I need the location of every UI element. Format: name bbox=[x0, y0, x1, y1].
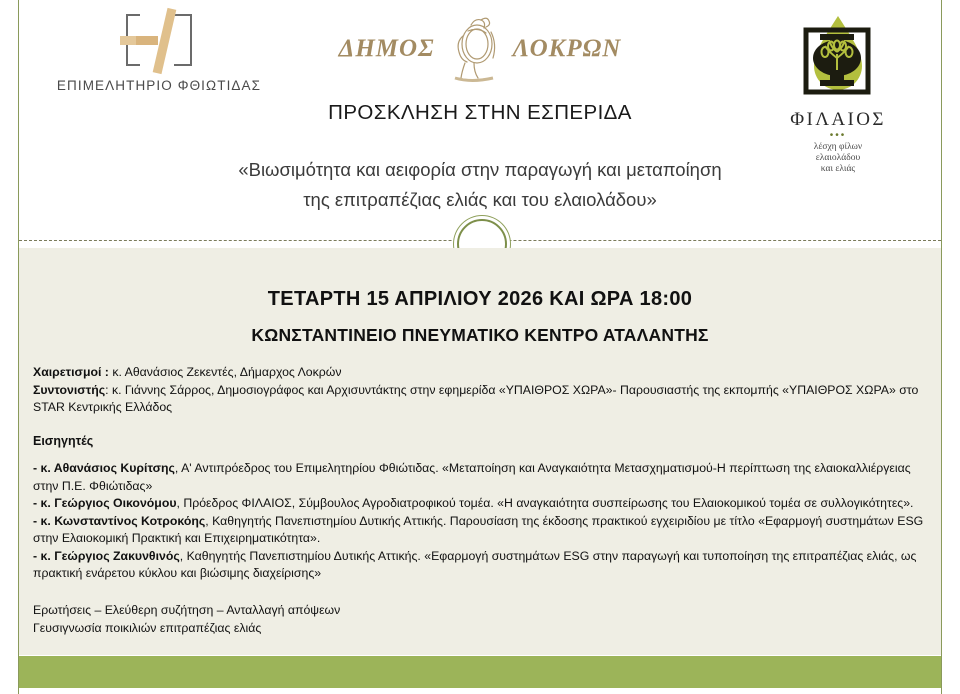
chamber-bracket-icon bbox=[126, 14, 192, 66]
moderator-text: : κ. Γιάννης Σάρρος, Δημοσιογράφος και Α… bbox=[33, 383, 918, 415]
closing-notes: Ερωτήσεις – Ελεύθερη συζήτηση – Ανταλλαγ… bbox=[33, 601, 927, 637]
invitation-poster: ΕΠΙΜΕΛΗΤΗΡΙΟ ΦΘΙΩΤΙΔΑΣ ΔΗΜΟΣ bbox=[0, 0, 960, 694]
event-details-panel: ΤΕΤΑΡΤΗ 15 ΑΠΡΙΛΙΟΥ 2026 ΚΑΙ ΩΡΑ 18:00 Κ… bbox=[19, 248, 941, 655]
greetings-line: Χαιρετισμοί : κ. Αθανάσιος Ζεκεντές, Δήμ… bbox=[33, 364, 927, 382]
speaker-name: - κ. Κωνσταντίνος Κοτροκόης bbox=[33, 514, 205, 528]
speaker-entry: - κ. Κωνσταντίνος Κοτροκόης, Καθηγητής Π… bbox=[33, 513, 927, 548]
speakers-heading: Εισηγητές bbox=[33, 433, 927, 451]
event-program: Χαιρετισμοί : κ. Αθανάσιος Ζεκεντές, Δήμ… bbox=[33, 364, 927, 637]
speaker-entry: - κ. Γεώργιος Ζακυνθινός, Καθηγητής Πανε… bbox=[33, 548, 927, 583]
filaios-subtitle-line1: λέσχη φίλων bbox=[758, 142, 918, 153]
invitation-title: ΠΡΟΣΚΛΗΣΗ ΣΤΗΝ ΕΣΠΕΡΙΔΑ bbox=[0, 101, 960, 125]
program-spacer bbox=[33, 417, 927, 433]
speaker-entry: - κ. Γεώργιος Οικονόμου, Πρόεδρος ΦΙΛΑΙΟ… bbox=[33, 495, 927, 513]
speaker-description: , Πρόεδρος ΦΙΛΑΙΟΣ, Σύμβουλος Αγροδιατρο… bbox=[177, 496, 914, 510]
closing-line1: Ερωτήσεις – Ελεύθερη συζήτηση – Ανταλλαγ… bbox=[33, 601, 927, 619]
logo-chamber-of-fthiotida: ΕΠΙΜΕΛΗΤΗΡΙΟ ΦΘΙΩΤΙΔΑΣ bbox=[34, 14, 284, 93]
chamber-logo-text: ΕΠΙΜΕΛΗΤΗΡΙΟ ΦΘΙΩΤΙΔΑΣ bbox=[34, 78, 284, 93]
olive-drop-tree-icon bbox=[784, 12, 892, 108]
speaker-name: - κ. Γεώργιος Ζακυνθινός bbox=[33, 549, 180, 563]
footer-green-bar bbox=[19, 656, 941, 688]
closing-line2: Γευσιγνωσία ποικιλιών επιτραπέζιας ελιάς bbox=[33, 619, 927, 637]
municipality-word-right: ΛΟΚΡΩΝ bbox=[513, 35, 622, 63]
ancient-warrior-icon bbox=[441, 14, 507, 84]
event-datetime: ΤΕΤΑΡΤΗ 15 ΑΠΡΙΛΙΟΥ 2026 ΚΑΙ ΩΡΑ 18:00 bbox=[33, 288, 927, 311]
speaker-name: - κ. Αθανάσιος Κυρίτσης bbox=[33, 461, 175, 475]
event-theme-line1: «Βιωσιμότητα και αειφορία στην παραγωγή … bbox=[120, 155, 840, 185]
greetings-label: Χαιρετισμοί : bbox=[33, 365, 109, 379]
poster-header: ΕΠΙΜΕΛΗΤΗΡΙΟ ΦΘΙΩΤΙΔΑΣ ΔΗΜΟΣ bbox=[0, 0, 960, 232]
municipality-word-left: ΔΗΜΟΣ bbox=[339, 35, 435, 63]
event-venue: ΚΩΝΣΤΑΝΤΙΝΕΙΟ ΠΝΕΥΜΑΤΙΚΟ ΚΕΝΤΡΟ ΑΤΑΛΑΝΤΗ… bbox=[33, 325, 927, 346]
event-theme-line2: της επιτραπέζιας ελιάς και του ελαιολάδο… bbox=[120, 185, 840, 215]
moderator-label: Συντονιστής bbox=[33, 383, 105, 397]
greetings-text: κ. Αθανάσιος Ζεκεντές, Δήμαρχος Λοκρών bbox=[109, 365, 342, 379]
event-theme: «Βιωσιμότητα και αειφορία στην παραγωγή … bbox=[120, 155, 840, 215]
moderator-line: Συντονιστής: κ. Γιάννης Σάρρος, Δημοσιογ… bbox=[33, 382, 927, 417]
logo-municipality-lokron: ΔΗΜΟΣ ΛΟΚΡΩ bbox=[330, 14, 630, 84]
logo-filaios: ΦΙΛΑΙΟΣ ••• λέσχη φίλων ελαιολάδου και ε… bbox=[758, 12, 918, 175]
filaios-dots: ••• bbox=[758, 132, 918, 140]
speaker-name: - κ. Γεώργιος Οικονόμου bbox=[33, 496, 177, 510]
speaker-entry: - κ. Αθανάσιος Κυρίτσης, Α' Αντιπρόεδρος… bbox=[33, 460, 927, 495]
